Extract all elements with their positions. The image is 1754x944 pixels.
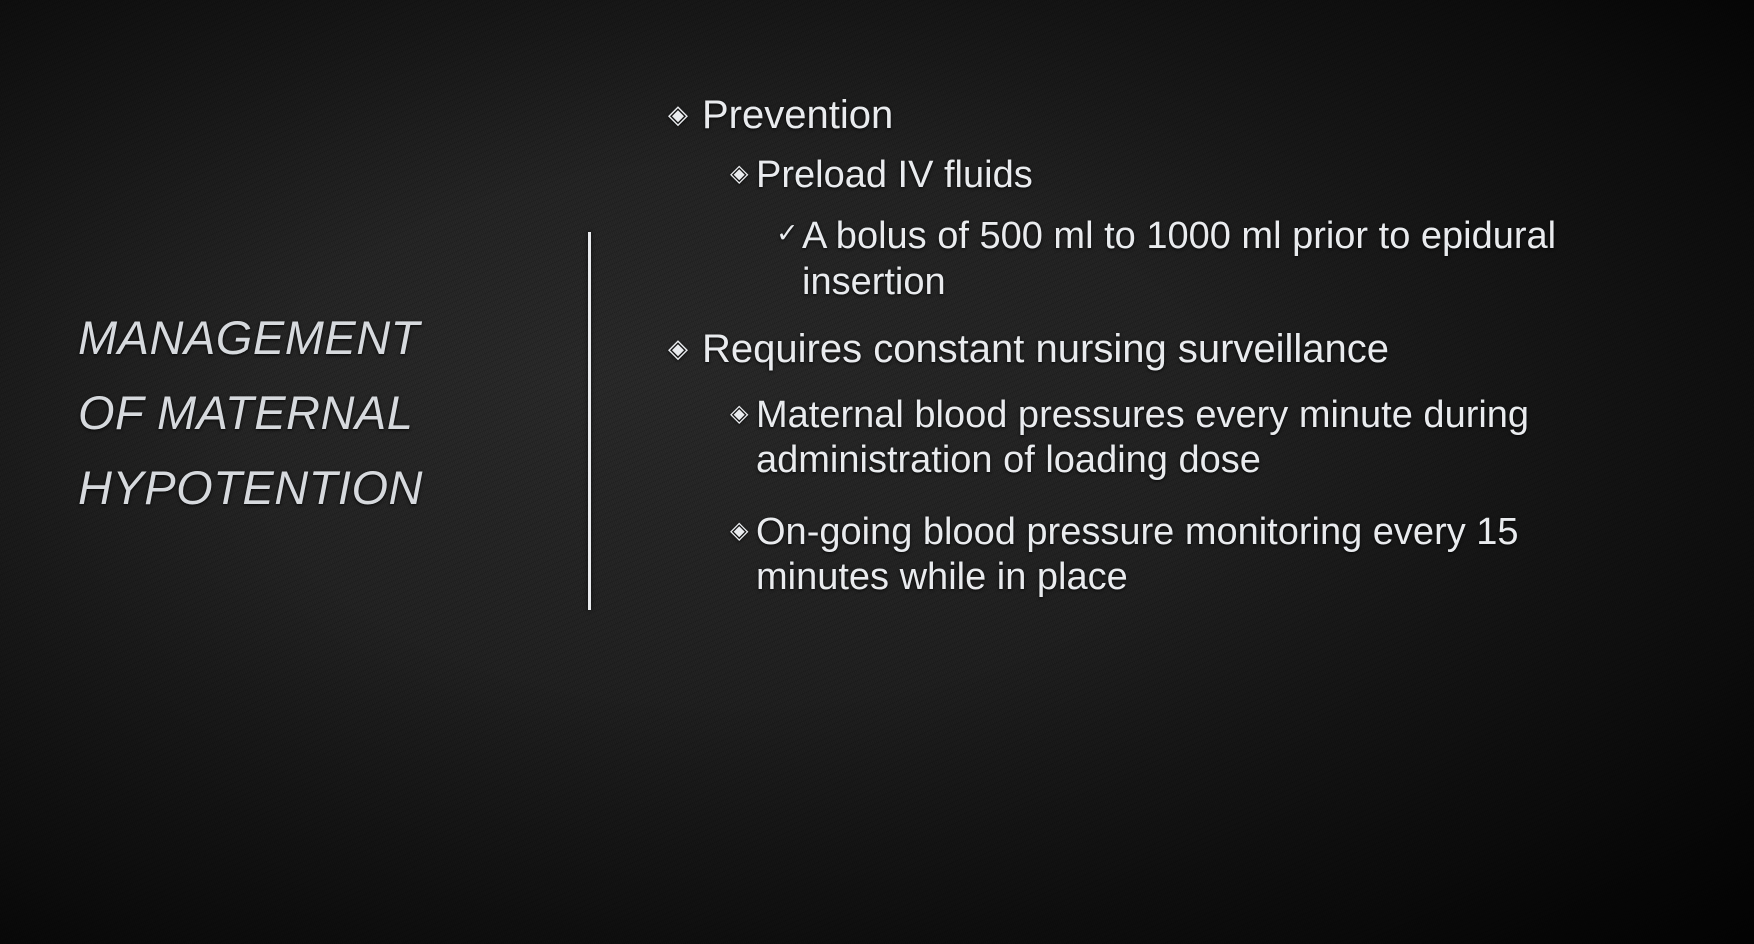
title-line-2: OF MATERNAL bbox=[78, 375, 548, 450]
list-item: ◈ Prevention bbox=[668, 92, 1560, 139]
list-item-label: A bolus of 500 ml to 1000 ml prior to ep… bbox=[802, 213, 1560, 306]
list-item-label: Maternal blood pressures every minute du… bbox=[756, 393, 1560, 484]
spacer bbox=[640, 488, 1560, 510]
list-item-label: Requires constant nursing surveillance bbox=[702, 326, 1560, 373]
slide-title: MANAGEMENT OF MATERNAL HYPOTENTION bbox=[78, 300, 548, 526]
list-item: ✓ A bolus of 500 ml to 1000 ml prior to … bbox=[776, 213, 1560, 306]
list-item-label: Prevention bbox=[702, 92, 1560, 139]
title-line-1: MANAGEMENT bbox=[78, 300, 548, 375]
diamond-bullet-icon: ◈ bbox=[668, 92, 702, 130]
list-item: ◈ On-going blood pressure monitoring eve… bbox=[730, 510, 1560, 601]
list-item-label: On-going blood pressure monitoring every… bbox=[756, 510, 1560, 601]
list-item: ◈ Maternal blood pressures every minute … bbox=[730, 393, 1560, 484]
list-item: ◈ Preload IV fluids bbox=[730, 153, 1560, 199]
list-item-label: Preload IV fluids bbox=[756, 153, 1560, 199]
vertical-divider bbox=[588, 232, 591, 610]
diamond-bullet-icon: ◈ bbox=[730, 153, 756, 189]
spacer bbox=[640, 203, 1560, 213]
spacer bbox=[640, 143, 1560, 153]
diamond-bullet-icon: ◈ bbox=[730, 393, 756, 429]
spacer bbox=[640, 310, 1560, 326]
slide-body-list: ◈ Prevention ◈ Preload IV fluids ✓ A bol… bbox=[640, 92, 1560, 605]
spacer bbox=[640, 377, 1560, 393]
presentation-slide: MANAGEMENT OF MATERNAL HYPOTENTION ◈ Pre… bbox=[0, 0, 1754, 944]
diamond-bullet-icon: ◈ bbox=[730, 510, 756, 546]
list-item: ◈ Requires constant nursing surveillance bbox=[668, 326, 1560, 373]
check-bullet-icon: ✓ bbox=[776, 213, 802, 250]
diamond-bullet-icon: ◈ bbox=[668, 326, 702, 364]
title-line-3: HYPOTENTION bbox=[78, 450, 548, 525]
